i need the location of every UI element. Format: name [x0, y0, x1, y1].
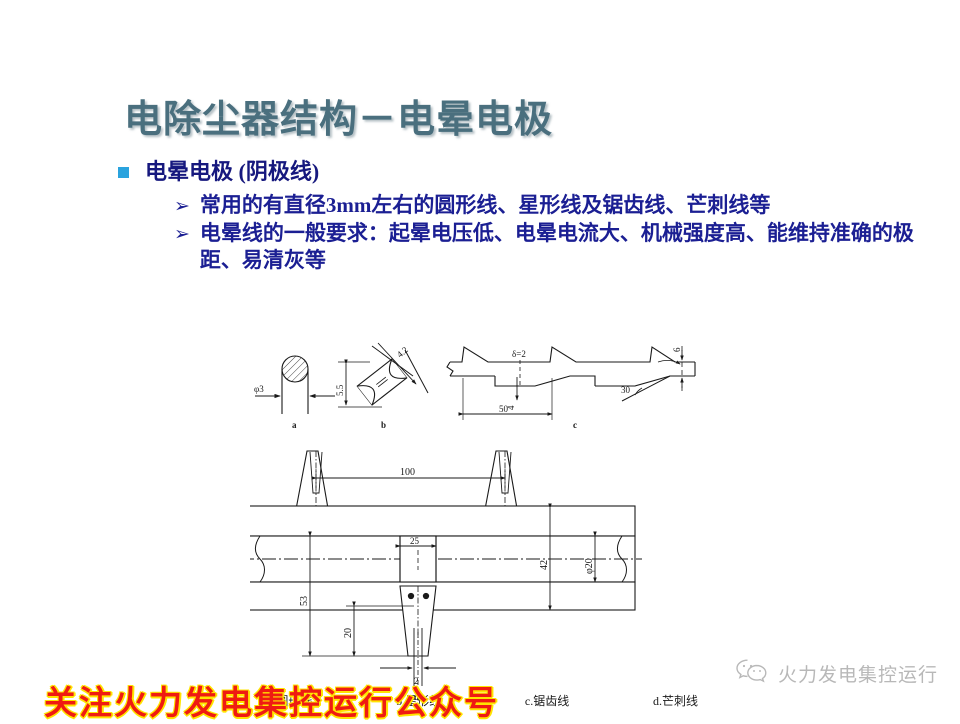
arrow-bullet-icon: ➢ [174, 197, 190, 216]
dim-53: 53 [299, 596, 310, 606]
wechat-watermark: 火力发电集控运行 [735, 658, 938, 689]
figure-part-c: δ=2 4 50 30 [447, 346, 695, 430]
bullet-level2-label: 常用的有直径3mm左右的圆形线、星形线及锯齿线、芒刺线等 [200, 192, 770, 219]
caption-item-c: c.锯齿线 [525, 692, 569, 709]
dim-42: 42 [539, 560, 550, 570]
dim-20: 20 [343, 628, 354, 638]
dim-5-5: 5.5 [335, 384, 345, 396]
barb-down [400, 586, 436, 686]
arrow-bullet-icon: ➢ [174, 225, 190, 244]
label-b: b [381, 420, 386, 430]
dim-4-2: 4.2 [395, 345, 410, 360]
promo-overlay-text: 关注火力发电集控运行公众号 [44, 676, 499, 724]
dim-30: 30 [621, 385, 631, 395]
bullet-level1-label: 电晕电极 (阴极线) [145, 158, 319, 187]
figure-part-b: 4.2 5.5 b [335, 343, 428, 430]
page-title: 电除尘器结构－电晕电极 [124, 88, 553, 143]
bullet-list: 电晕电极 (阴极线) ➢ 常用的有直径3mm左右的圆形线、星形线及锯齿线、芒刺线… [118, 158, 928, 276]
bullet-level2-item: ➢ 常用的有直径3mm左右的圆形线、星形线及锯齿线、芒刺线等 [174, 192, 928, 219]
caption-item-d: d.芒刺线 [653, 692, 698, 709]
bullet-level2-item: ➢ 电晕线的一般要求：起晕电压低、电晕电流大、机械强度高、能维持准确的极距、易清… [174, 220, 928, 274]
dim-phi20: φ20 [584, 558, 595, 574]
square-bullet-icon [118, 167, 129, 178]
dim-25: 25 [410, 536, 420, 546]
figure-part-d: 100 [250, 451, 642, 702]
label-c: c [573, 420, 577, 430]
dim-100: 100 [400, 467, 415, 478]
dim-50: 50 [499, 404, 509, 414]
bullet-level2-label: 电晕线的一般要求：起晕电压低、电晕电流大、机械强度高、能维持准确的极距、易清灰等 [200, 220, 928, 274]
label-a: a [292, 420, 297, 430]
wechat-icon [735, 658, 769, 689]
slide-canvas: 电除尘器结构－电晕电极 电晕电极 (阴极线) ➢ 常用的有直径3mm左右的圆形线… [0, 0, 960, 720]
figure-part-a: φ3 a [254, 356, 335, 430]
dim-phi3: φ3 [254, 384, 264, 394]
dim-delta-2: δ=2 [512, 349, 526, 359]
wechat-account-name: 火力发电集控运行 [778, 660, 938, 687]
bullet-level1-item: 电晕电极 (阴极线) [118, 158, 928, 187]
technical-drawing: φ3 a [250, 338, 720, 703]
dim-6: 6 [672, 347, 682, 352]
